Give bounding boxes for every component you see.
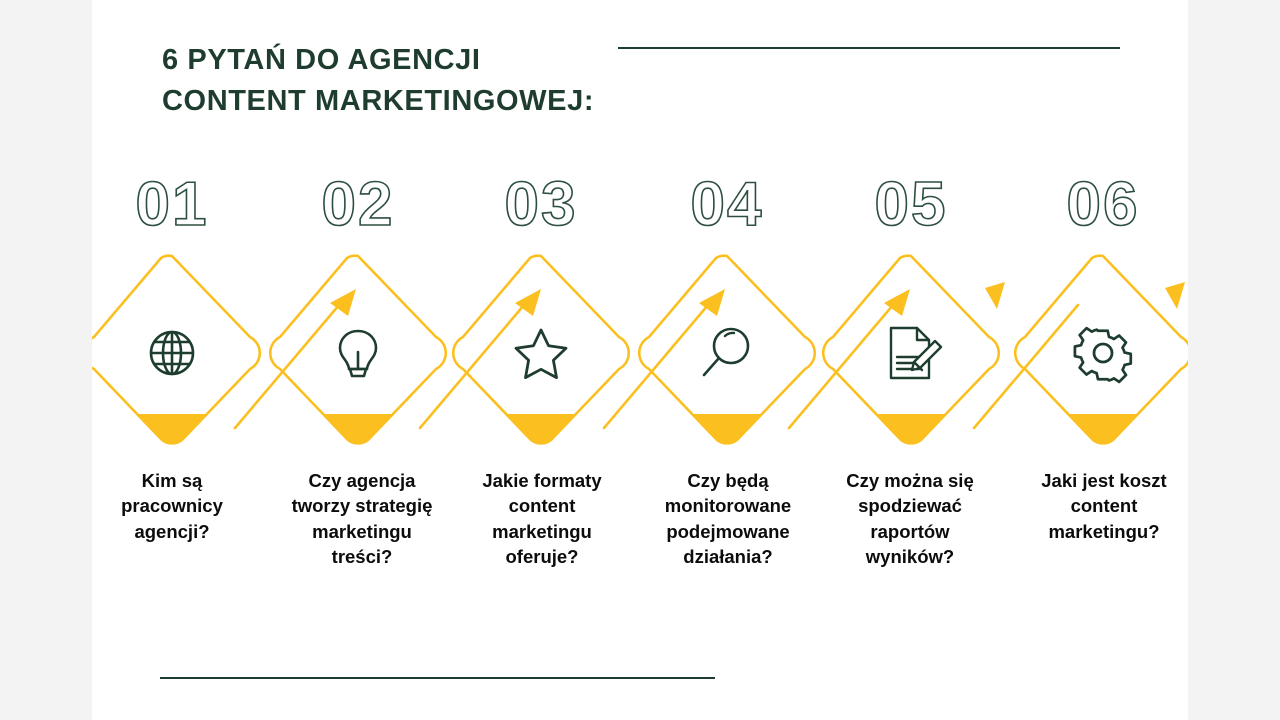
caption-line: Jaki jest koszt: [1012, 468, 1188, 493]
caption-line: content: [1012, 493, 1188, 518]
caption-line: agencji?: [92, 519, 264, 544]
step-number-01: 01: [92, 168, 252, 242]
caption-line: Czy agencja: [270, 468, 454, 493]
lightbulb-icon: [326, 321, 390, 385]
page-title-line-1: 6 PYTAŃ DO AGENCJI: [162, 40, 722, 81]
caption-05: Czy można sięspodziewaćraportówwyników?: [818, 468, 1002, 570]
caption-line: działania?: [636, 544, 820, 569]
step-number-row: 01 02 03 04 05 06: [92, 168, 1188, 248]
caption-line: monitorowane: [636, 493, 820, 518]
caption-line: treści?: [270, 544, 454, 569]
caption-line: Kim są: [92, 468, 264, 493]
arrowhead-1: [330, 289, 356, 316]
step-number-03: 03: [461, 168, 621, 242]
caption-01: Kim sąpracownicyagencji?: [92, 468, 264, 544]
arrowhead-4: [884, 289, 910, 316]
caption-line: Czy można się: [818, 468, 1002, 493]
caption-line: tworzy strategię: [270, 493, 454, 518]
magnifier-icon: [695, 321, 759, 385]
bottom-divider-rule: [160, 677, 715, 679]
caption-line: Czy będą: [636, 468, 820, 493]
caption-03: Jakie formatycontentmarketinguoferuje?: [450, 468, 634, 570]
arrowhead-5: [985, 282, 1005, 309]
globe-icon: [140, 321, 204, 385]
gear-icon: [1071, 321, 1135, 385]
caption-line: raportów: [818, 519, 1002, 544]
connector-shaft-4: [789, 305, 893, 428]
slide-stage: 6 PYTAŃ DO AGENCJI CONTENT MARKETINGOWEJ…: [0, 0, 1280, 720]
caption-line: wyników?: [818, 544, 1002, 569]
connector-shaft-5: [974, 305, 1078, 428]
caption-line: Jakie formaty: [450, 468, 634, 493]
caption-04: Czy będąmonitorowanepodejmowanedziałania…: [636, 468, 820, 570]
arrowhead-group: [330, 282, 1185, 316]
step-number-02: 02: [278, 168, 438, 242]
caption-line: marketingu?: [1012, 519, 1188, 544]
arrowhead-6: [1165, 282, 1185, 309]
caption-line: content: [450, 493, 634, 518]
diamond-outline-group: [92, 256, 1188, 444]
step-number-06: 06: [1023, 168, 1183, 242]
caption-line: oferuje?: [450, 544, 634, 569]
caption-02: Czy agencjatworzy strategięmarketingutre…: [270, 468, 454, 570]
arrowhead-3: [699, 289, 725, 316]
document-edit-icon: [879, 321, 943, 385]
caption-line: marketingu: [450, 519, 634, 544]
caption-line: podejmowane: [636, 519, 820, 544]
page-title: 6 PYTAŃ DO AGENCJI CONTENT MARKETINGOWEJ…: [162, 40, 722, 122]
caption-line: pracownicy: [92, 493, 264, 518]
page-title-line-2: CONTENT MARKETINGOWEJ:: [162, 81, 722, 122]
step-number-05: 05: [831, 168, 991, 242]
star-icon: [509, 321, 573, 385]
caption-line: marketingu: [270, 519, 454, 544]
caption-06: Jaki jest kosztcontentmarketingu?: [1012, 468, 1188, 544]
connector-shaft-1: [235, 305, 339, 428]
caption-line: spodziewać: [818, 493, 1002, 518]
slide-canvas: 6 PYTAŃ DO AGENCJI CONTENT MARKETINGOWEJ…: [92, 0, 1188, 720]
arrowhead-2: [515, 289, 541, 316]
step-number-04: 04: [647, 168, 807, 242]
connector-shaft-3: [604, 305, 708, 428]
